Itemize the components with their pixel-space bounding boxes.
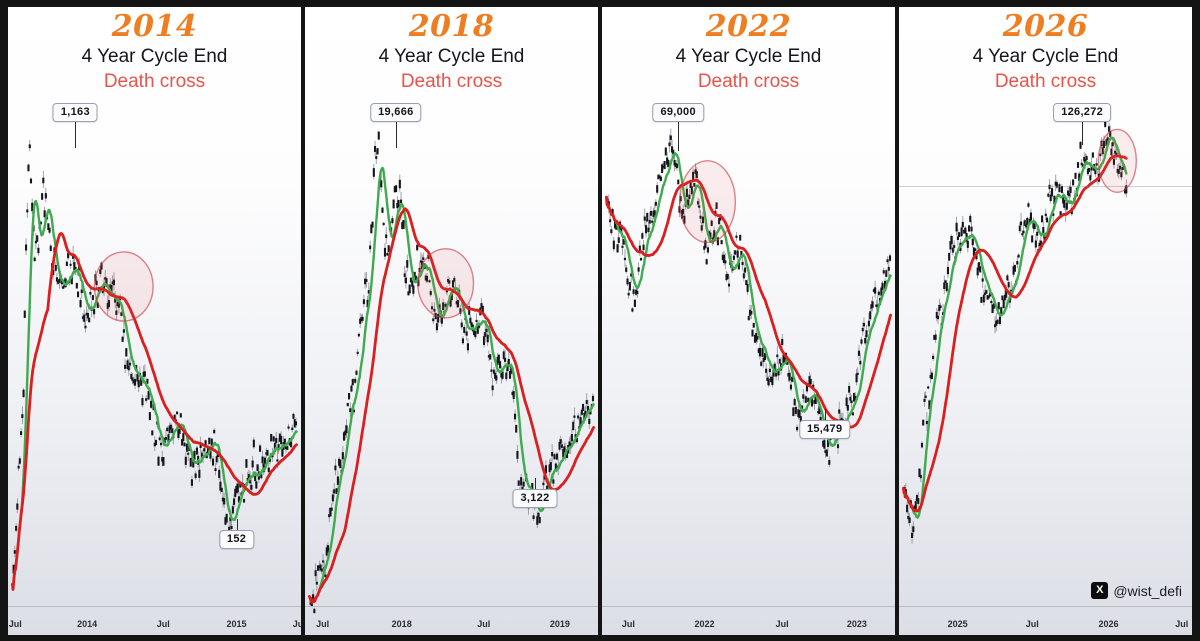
panel-year: 2014 bbox=[8, 11, 301, 43]
panel-death-cross-label: Death cross bbox=[8, 71, 301, 93]
price-label: 19,666 bbox=[370, 103, 421, 122]
cycle-panel-2018: 20184 Year Cycle EndDeath cross19,6663,1… bbox=[305, 7, 602, 635]
death-cross-marker bbox=[680, 161, 736, 243]
x-axis-tick: 2026 bbox=[1098, 619, 1118, 629]
x-axis-tick: Jul bbox=[1026, 619, 1039, 629]
panel-year: 2026 bbox=[899, 11, 1192, 43]
price-chart-2018 bbox=[305, 7, 598, 635]
cycle-panel-2014: 20144 Year Cycle EndDeath cross1,163152J… bbox=[8, 7, 305, 635]
panel-row: 20144 Year Cycle EndDeath cross1,163152J… bbox=[8, 7, 1192, 635]
panel-year: 2022 bbox=[602, 11, 895, 43]
death-cross-marker bbox=[1098, 129, 1136, 192]
x-axis-tick: 2018 bbox=[392, 619, 412, 629]
price-label: 15,479 bbox=[799, 420, 850, 439]
panel-death-cross-label: Death cross bbox=[899, 71, 1192, 93]
x-axis-tick: 2022 bbox=[695, 619, 715, 629]
cycle-panel-2026: 20264 Year Cycle EndDeath cross126,27220… bbox=[899, 7, 1192, 635]
panel-header: 20224 Year Cycle EndDeath cross bbox=[602, 11, 895, 93]
cycle-panel-2022: 20224 Year Cycle EndDeath cross69,00015,… bbox=[602, 7, 899, 635]
ma-slow-line bbox=[903, 156, 1126, 511]
x-axis-tick: Jul bbox=[9, 619, 22, 629]
x-axis: Jul2014Jul2015Ju bbox=[8, 605, 301, 635]
price-chart-2022 bbox=[602, 7, 895, 635]
x-axis-tick: 2019 bbox=[550, 619, 570, 629]
x-axis: 2025Jul2026Jul bbox=[899, 605, 1192, 635]
x-axis-tick: Jul bbox=[157, 619, 170, 629]
x-axis-tick: Jul bbox=[776, 619, 789, 629]
x-axis-tick: Jul bbox=[477, 619, 490, 629]
x-axis-tick: Jul bbox=[1175, 619, 1188, 629]
price-chart-2014 bbox=[8, 7, 301, 635]
x-axis-tick: 2023 bbox=[847, 619, 867, 629]
panel-header: 20184 Year Cycle EndDeath cross bbox=[305, 11, 598, 93]
x-axis-tick: Ju bbox=[293, 619, 304, 629]
candlestick-series bbox=[14, 140, 296, 573]
x-axis-tick: Jul bbox=[622, 619, 635, 629]
ma-fast-line bbox=[903, 138, 1126, 518]
x-axis-tick: 2025 bbox=[948, 619, 968, 629]
x-axis: Jul2018Jul2019 bbox=[305, 605, 598, 635]
watermark-handle: @wist_defi bbox=[1113, 583, 1182, 599]
panel-death-cross-label: Death cross bbox=[602, 71, 895, 93]
candlestick-series bbox=[311, 132, 593, 614]
panel-year: 2018 bbox=[305, 11, 598, 43]
death-cross-marker bbox=[418, 249, 474, 318]
x-axis: Jul2022Jul2023 bbox=[602, 605, 895, 635]
price-gridline bbox=[899, 186, 1192, 187]
x-axis-tick: Jul bbox=[316, 619, 329, 629]
price-label: 1,163 bbox=[53, 103, 98, 122]
panel-subtitle: 4 Year Cycle End bbox=[602, 46, 895, 68]
panel-header: 20144 Year Cycle EndDeath cross bbox=[8, 11, 301, 93]
x-axis-tick: 2015 bbox=[227, 619, 247, 629]
price-label: 3,122 bbox=[512, 489, 557, 508]
panel-subtitle: 4 Year Cycle End bbox=[899, 46, 1192, 68]
x-axis-tick: 2014 bbox=[77, 619, 97, 629]
panel-death-cross-label: Death cross bbox=[305, 71, 598, 93]
panel-subtitle: 4 Year Cycle End bbox=[8, 46, 301, 68]
price-label: 152 bbox=[219, 530, 254, 549]
panel-subtitle: 4 Year Cycle End bbox=[305, 46, 598, 68]
x-logo-icon: X bbox=[1091, 582, 1108, 599]
ma-slow-line bbox=[606, 180, 890, 427]
watermark: X@wist_defi bbox=[1091, 582, 1182, 599]
death-cross-marker bbox=[94, 252, 153, 321]
price-chart-2026 bbox=[899, 7, 1192, 635]
image-frame: 20144 Year Cycle EndDeath cross1,163152J… bbox=[0, 0, 1200, 641]
panel-header: 20264 Year Cycle EndDeath cross bbox=[899, 11, 1192, 93]
price-label: 126,272 bbox=[1053, 103, 1111, 122]
price-label: 69,000 bbox=[652, 103, 703, 122]
